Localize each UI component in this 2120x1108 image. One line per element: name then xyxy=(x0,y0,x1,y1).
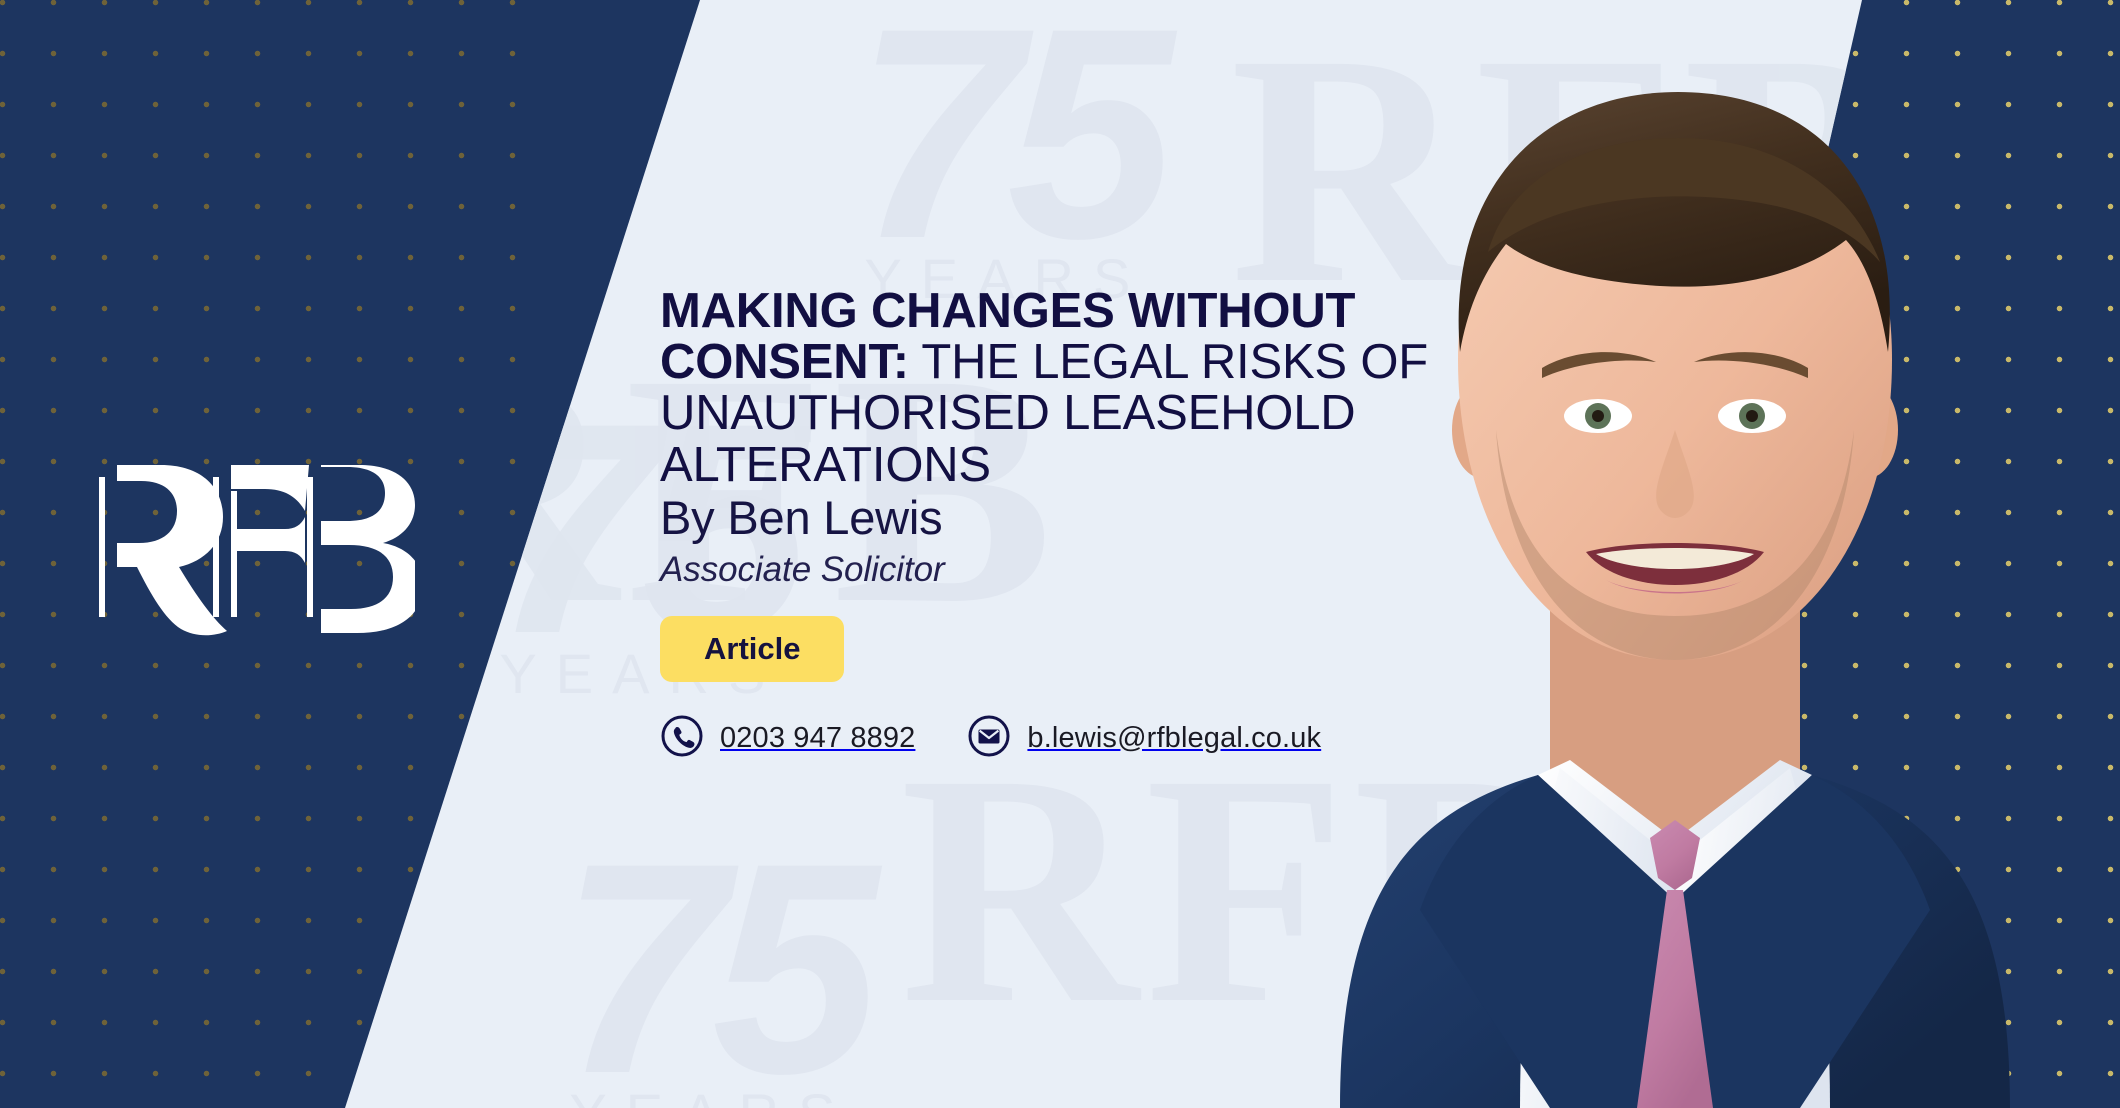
rfb-logo xyxy=(95,455,415,640)
email-icon xyxy=(967,714,1011,763)
phone-icon xyxy=(660,714,704,763)
author-portrait xyxy=(1220,0,2120,1108)
article-promo-banner: 75 YEARS RFB RFB 75 YEARS RFB 75 YEARS xyxy=(0,0,2120,1108)
contact-phone[interactable]: 0203 947 8892 xyxy=(660,714,915,763)
article-badge[interactable]: Article xyxy=(660,616,844,682)
phone-number: 0203 947 8892 xyxy=(720,722,915,755)
